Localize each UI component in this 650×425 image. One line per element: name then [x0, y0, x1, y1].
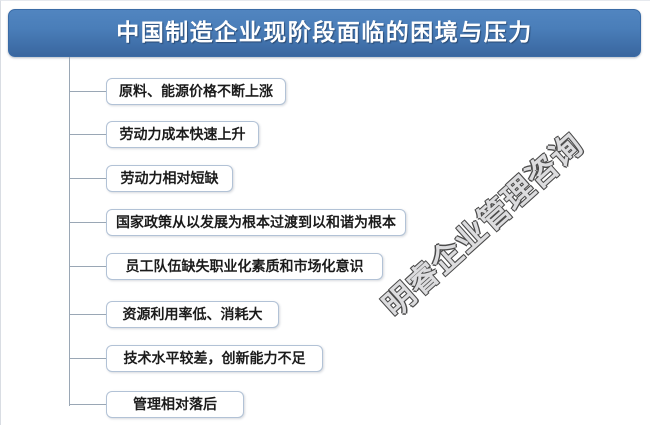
connector-branch	[70, 358, 106, 359]
diagram-node-label: 原料、能源价格不断上涨	[119, 85, 273, 99]
diagram-node[interactable]: 员工队伍缺失职业化素质和市场化意识	[106, 253, 383, 280]
diagram-node-label: 国家政策从以发展为根本过渡到以和谐为根本	[116, 216, 396, 230]
diagram-node[interactable]: 资源利用率低、消耗大	[106, 301, 279, 328]
connector-branch	[70, 266, 106, 267]
connector-trunk	[69, 57, 70, 406]
connector-branch	[70, 134, 106, 135]
diagram-node[interactable]: 管理相对落后	[106, 391, 244, 418]
diagram-node[interactable]: 技术水平较差，创新能力不足	[106, 345, 323, 372]
diagram-node-label: 劳动力成本快速上升	[120, 128, 246, 142]
page-title: 中国制造企业现阶段面临的困境与压力	[116, 22, 533, 45]
connector-branch	[70, 314, 106, 315]
connector-branch	[70, 91, 106, 92]
diagram-node-label: 管理相对落后	[133, 398, 217, 412]
diagram-canvas: 中国制造企业现阶段面临的困境与压力 原料、能源价格不断上涨劳动力成本快速上升劳动…	[0, 0, 650, 425]
diagram-node[interactable]: 原料、能源价格不断上涨	[106, 78, 286, 105]
connector-branch	[70, 222, 106, 223]
diagram-node-label: 资源利用率低、消耗大	[123, 308, 263, 322]
diagram-node-label: 技术水平较差，创新能力不足	[124, 352, 306, 366]
connector-branch	[70, 404, 106, 405]
diagram-node[interactable]: 劳动力成本快速上升	[106, 121, 259, 148]
diagram-node-label: 劳动力相对短缺	[121, 172, 219, 186]
diagram-node[interactable]: 国家政策从以发展为根本过渡到以和谐为根本	[106, 209, 406, 236]
diagram-node[interactable]: 劳动力相对短缺	[106, 165, 233, 192]
connector-branch	[70, 178, 106, 179]
diagram-title-box: 中国制造企业现阶段面临的困境与压力	[8, 9, 641, 57]
diagram-node-label: 员工队伍缺失职业化素质和市场化意识	[126, 260, 364, 274]
